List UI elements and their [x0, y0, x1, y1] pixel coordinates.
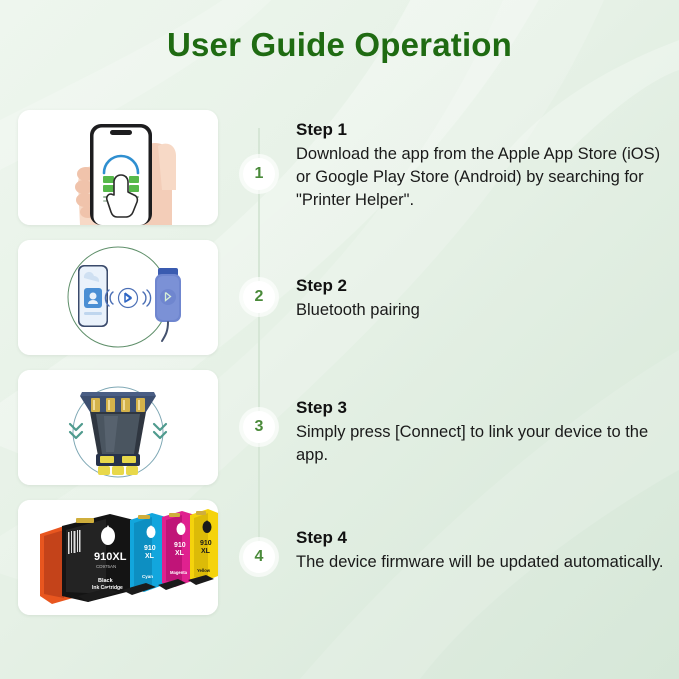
- step-4-image-card: 910XL CD975AN Black Ink Cartridge: [18, 500, 218, 615]
- step-3-image-card: [18, 370, 218, 485]
- step-4-body: The device firmware will be updated auto…: [296, 551, 668, 574]
- steps-list: 1 Step 1 Download the app from the Apple…: [0, 110, 679, 630]
- svg-text:910: 910: [200, 540, 212, 547]
- step-1-body: Download the app from the Apple App Stor…: [296, 143, 668, 212]
- step-row-1: 1 Step 1 Download the app from the Apple…: [0, 110, 679, 240]
- step-row-2: 2 Step 2 Bluetooth pairing: [0, 240, 679, 370]
- ink-cartridges-photo: 910XL CD975AN Black Ink Cartridge: [18, 500, 218, 615]
- page-title: User Guide Operation: [0, 26, 679, 64]
- step-1-image-card: [18, 110, 218, 225]
- step-badge-4: 4: [243, 541, 275, 573]
- step-badge-2: 2: [243, 281, 275, 313]
- step-1-text: Step 1 Download the app from the Apple A…: [296, 120, 668, 212]
- cartridge-color-label: Black: [98, 578, 114, 584]
- step-4-title: Step 4: [296, 528, 668, 548]
- step-2-body: Bluetooth pairing: [296, 299, 668, 322]
- step-badge-1: 1: [243, 158, 275, 190]
- step-2-image-card: [18, 240, 218, 355]
- step-3-text: Step 3 Simply press [Connect] to link yo…: [296, 398, 668, 467]
- svg-text:XL: XL: [145, 553, 155, 560]
- step-1-title: Step 1: [296, 120, 668, 140]
- svg-text:910: 910: [174, 542, 186, 549]
- svg-text:Cyan: Cyan: [142, 574, 153, 579]
- svg-text:CD975AN: CD975AN: [96, 564, 116, 569]
- hand-holding-phone-with-app-illustration: [18, 110, 218, 225]
- step-row-4: 910XL CD975AN Black Ink Cartridge: [0, 500, 679, 630]
- cartridge-model-label: 910XL: [94, 551, 127, 563]
- phone-bluetooth-dongle-pairing-illustration: [18, 240, 218, 355]
- step-3-body: Simply press [Connect] to link your devi…: [296, 421, 668, 467]
- svg-text:XL: XL: [201, 548, 211, 555]
- step-2-text: Step 2 Bluetooth pairing: [296, 276, 668, 322]
- svg-text:XL: XL: [175, 550, 185, 557]
- chip-resetter-device-illustration: [18, 370, 218, 485]
- step-3-title: Step 3: [296, 398, 668, 418]
- step-4-text: Step 4 The device firmware will be updat…: [296, 528, 668, 574]
- svg-text:Magenta: Magenta: [170, 570, 188, 575]
- step-badge-3: 3: [243, 411, 275, 443]
- svg-text:Yellow: Yellow: [197, 568, 211, 573]
- step-connector-line: [258, 488, 260, 548]
- svg-text:910: 910: [144, 545, 156, 552]
- step-row-3: 3 Step 3 Simply press [Connect] to link …: [0, 370, 679, 500]
- step-2-title: Step 2: [296, 276, 668, 296]
